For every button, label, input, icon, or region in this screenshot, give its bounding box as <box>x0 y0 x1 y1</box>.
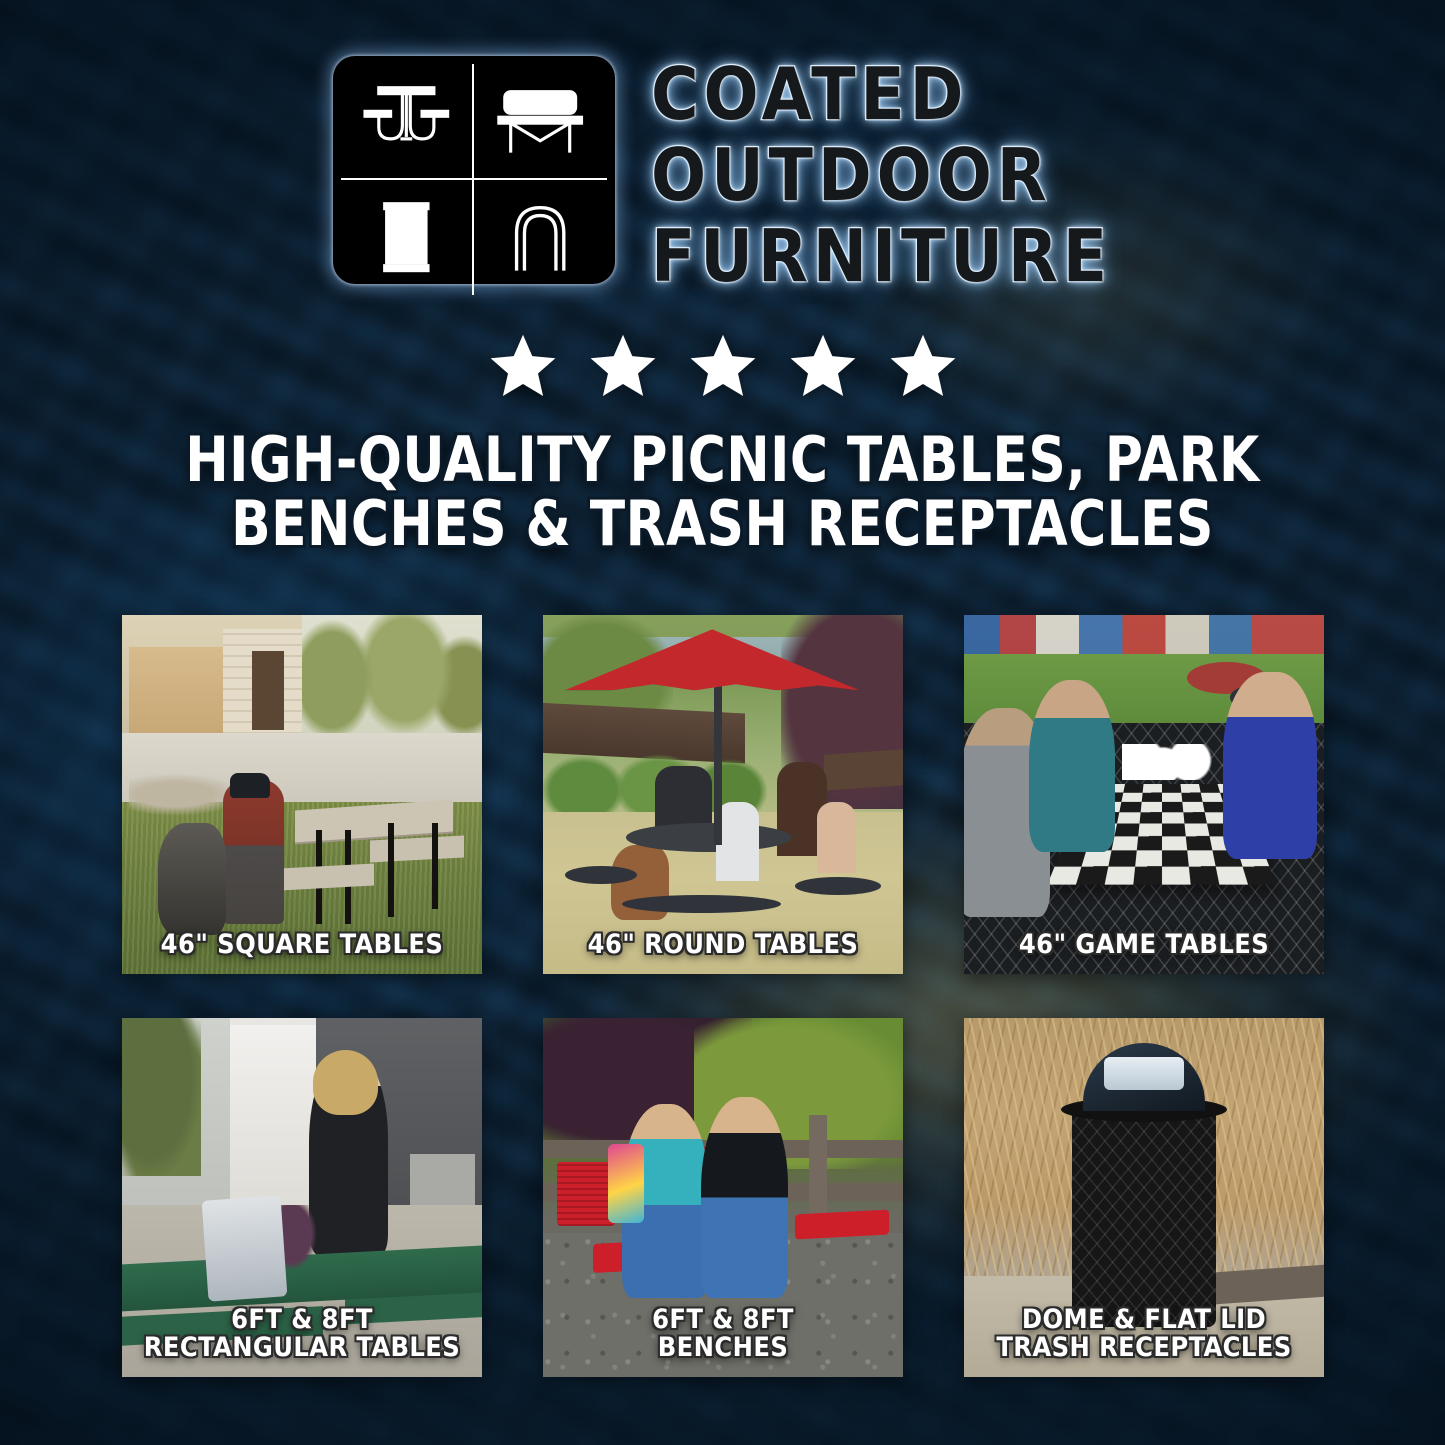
tile-caption-line-1: 46" SQUARE TABLES <box>128 931 476 960</box>
tile-caption-line-2: TRASH RECEPTACLES <box>970 1334 1318 1363</box>
tile-caption-line-1: 6FT & 8FT <box>549 1306 897 1335</box>
star-icon-1 <box>486 330 560 402</box>
tile-caption: 6FT & 8FT BENCHES <box>549 1306 897 1363</box>
tile-caption: DOME & FLAT LID TRASH RECEPTACLES <box>970 1306 1318 1363</box>
star-rating <box>0 330 1445 402</box>
star-icon-5 <box>886 330 960 402</box>
tile-caption-line-1: 46" ROUND TABLES <box>549 931 897 960</box>
tile-caption-line-1: 46" GAME TABLES <box>970 931 1318 960</box>
tile-caption-line-2: RECTANGULAR TABLES <box>128 1334 476 1363</box>
page-title: HIGH-QUALITY PICNIC TABLES, PARK BENCHES… <box>106 428 1338 557</box>
brand-wordmark: COATED OUTDOOR FURNITURE <box>651 56 1112 291</box>
logo-mark-icon-grid <box>333 56 615 284</box>
star-icon-3 <box>686 330 760 402</box>
brand-word-line-1: COATED <box>651 60 1112 129</box>
product-tile-round-tables[interactable]: 46" ROUND TABLES <box>543 615 903 974</box>
headline-line-1: HIGH-QUALITY PICNIC TABLES, PARK <box>185 423 1259 496</box>
picnic-table-icon <box>341 64 474 180</box>
product-tile-grid: 46" SQUARE TABLES <box>122 615 1323 1377</box>
bench-table-icon <box>474 64 607 180</box>
tile-caption-line-1: 6FT & 8FT <box>128 1306 476 1335</box>
tile-caption-line-2: BENCHES <box>549 1334 897 1363</box>
product-tile-square-tables[interactable]: 46" SQUARE TABLES <box>122 615 482 974</box>
product-tile-benches[interactable]: 6FT & 8FT BENCHES <box>543 1018 903 1377</box>
tile-caption-line-1: DOME & FLAT LID <box>970 1306 1318 1335</box>
brand-logo: COATED OUTDOOR FURNITURE <box>0 56 1445 291</box>
photo-square-tables <box>122 615 482 974</box>
star-icon-2 <box>586 330 660 402</box>
brand-word-line-2: OUTDOOR <box>651 141 1112 210</box>
tile-caption: 46" SQUARE TABLES <box>128 931 476 960</box>
product-tile-trash-receptacles[interactable]: DOME & FLAT LID TRASH RECEPTACLES <box>964 1018 1324 1377</box>
photo-game-tables <box>964 615 1324 974</box>
tile-caption: 46" ROUND TABLES <box>549 931 897 960</box>
photo-round-tables <box>543 615 903 974</box>
product-tile-game-tables[interactable]: 46" GAME TABLES <box>964 615 1324 974</box>
product-tile-rectangular-tables[interactable]: 6FT & 8FT RECTANGULAR TABLES <box>122 1018 482 1377</box>
brand-word-line-3: FURNITURE <box>651 222 1112 291</box>
bike-rack-icon <box>474 180 607 294</box>
tile-caption: 6FT & 8FT RECTANGULAR TABLES <box>128 1306 476 1363</box>
headline-line-2: BENCHES & TRASH RECEPTACLES <box>106 492 1338 556</box>
tile-caption: 46" GAME TABLES <box>970 931 1318 960</box>
trash-receptacle-icon <box>341 180 474 294</box>
star-icon-4 <box>786 330 860 402</box>
